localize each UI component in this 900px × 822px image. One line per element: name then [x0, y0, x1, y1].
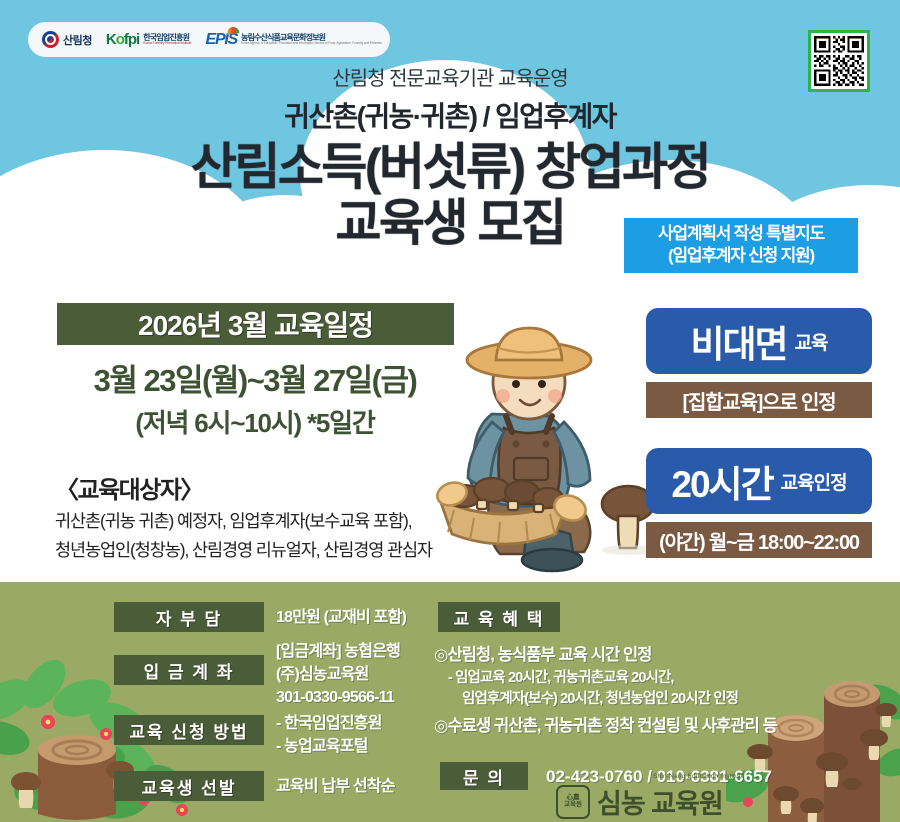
contact-label: 문 의 [440, 762, 528, 790]
schedule-times: (저녁 6시~10시) *5일간 [50, 403, 460, 440]
application-channel-1: - 한국임업진흥원 [276, 712, 382, 735]
sponsor-logo-bar: 산림청 Kofpi 한국임업진흥원 Korea Forestry Promoti… [28, 22, 390, 57]
bank-name: [입금계좌] 농협은행 [276, 640, 400, 663]
special-guidance-line1: 사업계획서 작성 특별지도 [624, 223, 858, 245]
badge-training-hours-note: (야간) 월~금 18:00~22:00 [646, 522, 872, 558]
benefits-label: 교 육 혜 택 [438, 602, 560, 632]
benefit-line-1: ◎산림청, 농식품부 교육 시간 인정 [434, 641, 652, 665]
badge-online-training-note: [집합교육]으로 인정 [646, 382, 872, 418]
info-label-selection: 교육생 선발 [114, 771, 264, 801]
badge-primary-text: 20시간 [671, 454, 772, 508]
epis-wordmark-icon: EPIS [205, 31, 237, 49]
schedule-heading: 2026년 3월 교육일정 [57, 303, 454, 345]
logo-epis: EPIS 농림수산식품교육문화정보원 Korea Agency of Educa… [205, 31, 381, 49]
institute-seal-icon: 心農 교육원 [556, 785, 590, 819]
poster-root: 산림청 Kofpi 한국임업진흥원 Korea Forestry Promoti… [0, 0, 900, 822]
info-label-self-cost: 자 부 담 [114, 602, 264, 632]
header-eyebrow: 산림청 전문교육기관 교육운영 [0, 62, 900, 91]
audience-heading: 〈교육대상자〉 [55, 470, 203, 505]
benefit-line-4: ◎수료생 귀산촌, 귀농귀촌 정착 컨설팅 및 사후관리 등 [434, 712, 777, 736]
badge-secondary-text: 교육인정 [781, 468, 847, 495]
account-number: 301-0330-9566-11 [276, 686, 400, 709]
institute-logo: 心農 교육원 Shin-Nang Education Institute 심농 … [556, 782, 723, 821]
schedule-dates: 3월 23일(월)~3월 27일(금) [50, 355, 460, 400]
info-value-bank-account: [입금계좌] 농협은행 (주)심농교육원 301-0330-9566-11 [276, 640, 400, 710]
taeguk-symbol-icon [42, 31, 59, 48]
badge-online-training: 비대면 교육 [646, 308, 872, 374]
info-label-application-method: 교육 신청 방법 [114, 715, 264, 745]
audience-line-1: 귀산촌(귀농 귀촌) 예정자, 임업후계자(보수교육 포함), [55, 508, 411, 533]
special-guidance-note: 사업계획서 작성 특별지도 (임업후계자 신청 지원) [624, 218, 858, 273]
special-guidance-line2: (임업후계자 신청 지원) [624, 245, 858, 267]
logo-kofpi: Kofpi 한국임업진흥원 Korea Forestry Promotion I… [106, 31, 192, 48]
info-value-selection: 교육비 납부 선착순 [276, 775, 395, 798]
audience-line-2: 청년농업인(청창농), 산림경영 리뉴얼자, 산림경영 관심자 [55, 537, 432, 562]
info-value-self-cost: 18만원 (교재비 포함) [276, 606, 406, 629]
logo-forest-service: 산림청 [42, 31, 92, 48]
info-value-application-method: - 한국임업진흥원 - 농업교육포털 [276, 712, 382, 758]
institute-name-en: Shin-Nang Education Institute [653, 773, 745, 780]
seal-line-2: 교육원 [564, 802, 582, 809]
page-title-line1: 산림소득(버섯류) 창업과정 [191, 139, 709, 195]
badge-training-hours: 20시간 교육인정 [646, 448, 872, 514]
application-channel-2: - 농업교육포털 [276, 735, 382, 758]
logo-label: 산림청 [63, 32, 92, 48]
benefit-line-2: - 임업교육 20시간, 귀농귀촌교육 20시간, [448, 666, 674, 687]
header-subtitle: 귀산촌(귀농·귀촌) / 임업후계자 [0, 95, 900, 135]
logo-label-en: Korea Forestry Promotion Institute [143, 42, 191, 45]
benefit-line-3: 임업후계자(보수) 20시간, 청년농업인 20시간 인정 [462, 687, 738, 708]
info-label-bank-account: 입 금 계 좌 [114, 655, 264, 685]
badge-primary-text: 비대면 [690, 314, 786, 368]
tree-logs-with-mushrooms-illustration [726, 666, 900, 822]
logo-label-en: Korea Agency of Education, Promotion and… [241, 42, 382, 45]
account-holder: (주)심농교육원 [276, 663, 400, 686]
badge-secondary-text: 교육 [795, 328, 828, 355]
institute-name-kr: 심농 교육원 [597, 789, 723, 819]
kofpi-wordmark-icon: Kofpi [106, 31, 139, 48]
farmer-with-mushroom-basket-illustration [430, 318, 670, 580]
